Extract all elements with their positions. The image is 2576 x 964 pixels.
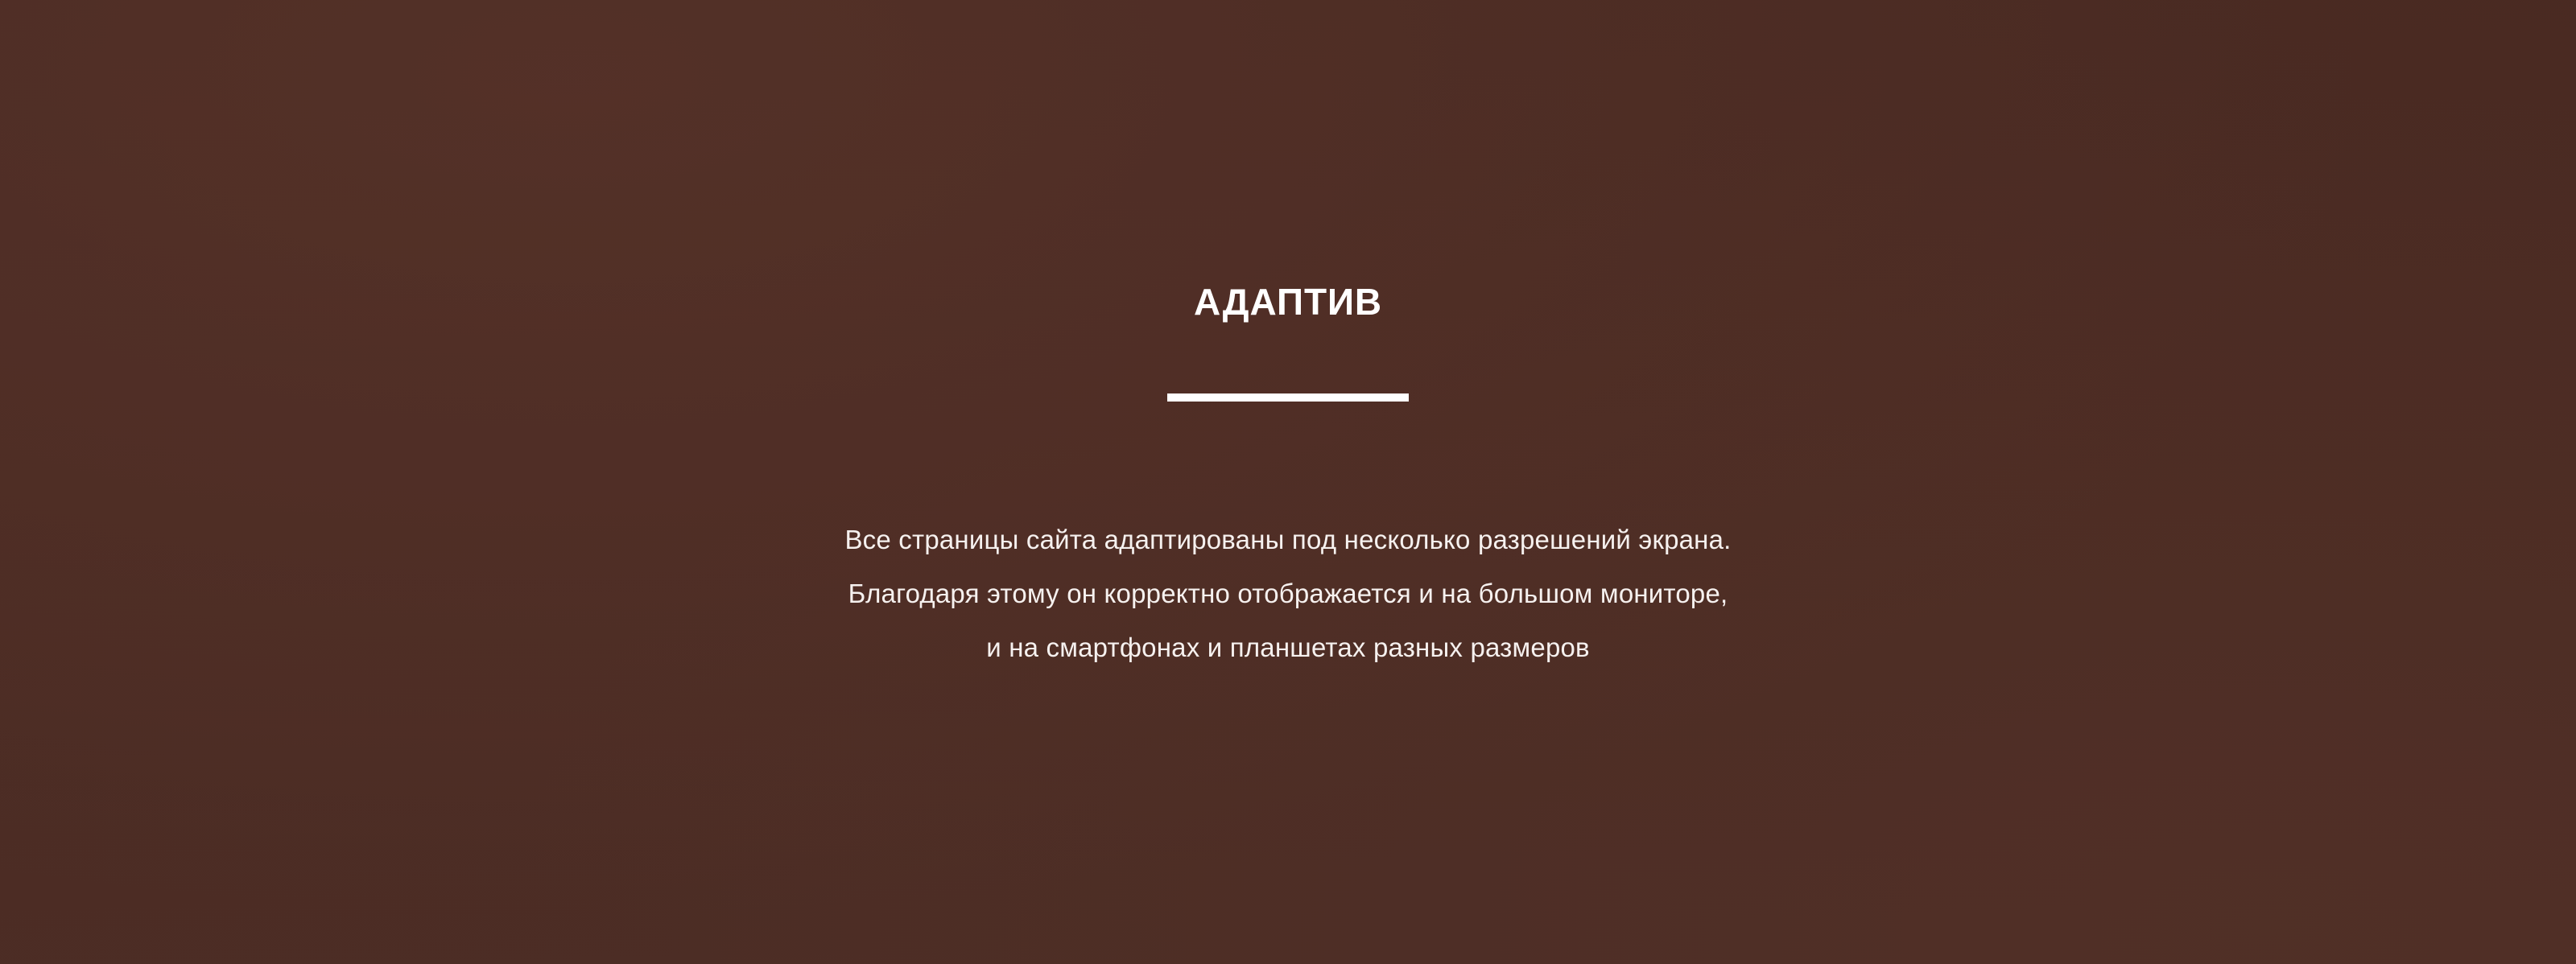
section-description: Все страницы сайта адаптированы под неск… [0,513,2576,674]
divider-rule [1167,393,1409,402]
description-line-2: Благодаря этому он корректно отображаетс… [0,566,2576,620]
description-line-1: Все страницы сайта адаптированы под неск… [0,513,2576,566]
section-content: АДАПТИВ Все страницы сайта адаптированы … [0,0,2576,964]
divider-container [0,393,2576,402]
description-line-3: и на смартфонах и планшетах разных разме… [0,620,2576,674]
adaptive-section: АДАПТИВ Все страницы сайта адаптированы … [0,0,2576,964]
page-title: АДАПТИВ [0,281,2576,323]
